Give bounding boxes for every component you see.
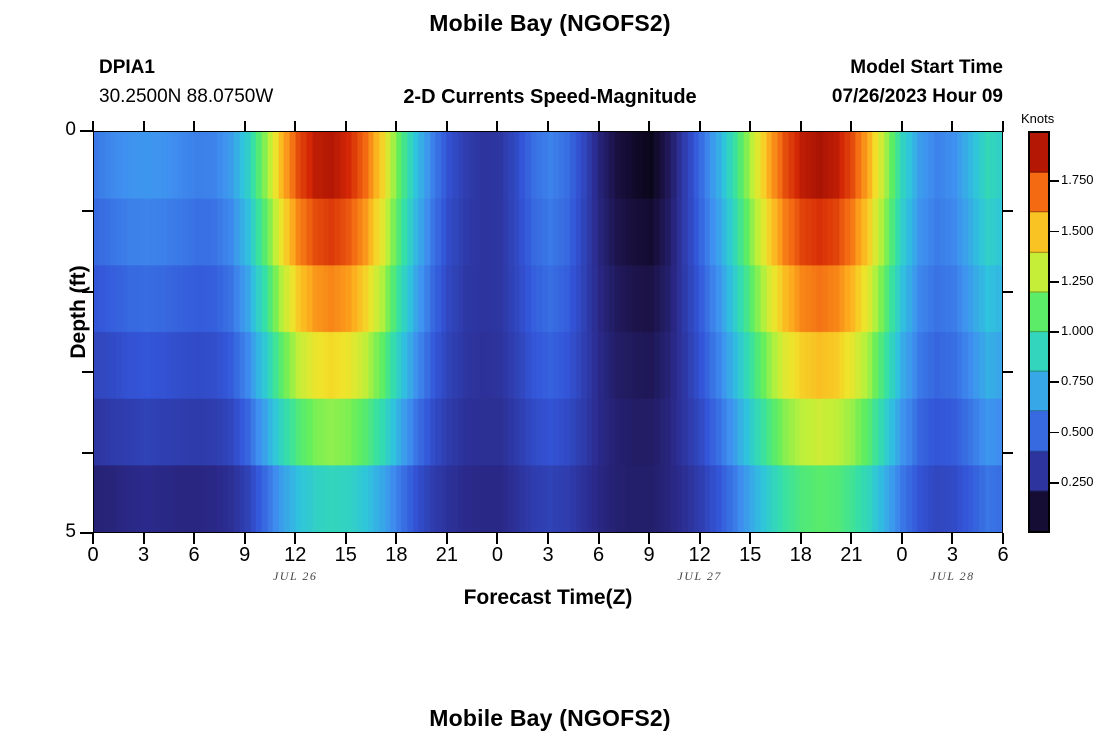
x-axis-tick-label: 21 bbox=[425, 544, 469, 567]
x-axis-day-label: JUL 28 bbox=[907, 569, 997, 584]
x-axis-tick-label: 9 bbox=[223, 544, 267, 567]
colorbar-tick-label: 1.750 bbox=[1061, 172, 1094, 187]
x-axis-tick-top bbox=[395, 121, 397, 132]
forecast-figure: Mobile Bay (NGOFS2) DPIA1 30.2500N 88.07… bbox=[0, 0, 1100, 750]
colorbar-title: Knots bbox=[1021, 111, 1054, 126]
colorbar-tick bbox=[1050, 180, 1059, 182]
x-axis-tick-top bbox=[244, 121, 246, 132]
x-axis-tick-top bbox=[800, 121, 802, 132]
x-axis-tick bbox=[850, 533, 852, 544]
colorbar-tick-label: 0.500 bbox=[1061, 424, 1094, 439]
x-axis-tick-label: 6 bbox=[981, 544, 1025, 567]
x-axis-day-label: JUL 26 bbox=[250, 569, 340, 584]
x-axis-tick-label: 15 bbox=[728, 544, 772, 567]
x-axis-tick-label: 0 bbox=[880, 544, 924, 567]
y-axis-minor-tick-right bbox=[1002, 371, 1013, 373]
x-axis-day-label: JUL 27 bbox=[655, 569, 745, 584]
x-axis-tick bbox=[800, 533, 802, 544]
x-axis-tick-label: 0 bbox=[475, 544, 519, 567]
heatmap-plot bbox=[93, 131, 1003, 533]
colorbar-tick bbox=[1050, 281, 1059, 283]
x-axis-tick-top bbox=[598, 121, 600, 132]
x-axis-tick-label: 9 bbox=[627, 544, 671, 567]
colorbar-tick bbox=[1050, 331, 1059, 333]
x-axis-tick-top bbox=[92, 121, 94, 132]
x-axis-tick-top bbox=[901, 121, 903, 132]
y-axis-minor-tick bbox=[82, 210, 93, 212]
y-axis-minor-tick-right bbox=[1002, 452, 1013, 454]
x-axis-tick bbox=[244, 533, 246, 544]
y-axis-minor-tick bbox=[82, 452, 93, 454]
x-axis-tick-label: 0 bbox=[71, 544, 115, 567]
y-axis-minor-tick-right bbox=[1002, 210, 1013, 212]
colorbar-tick-label: 1.500 bbox=[1061, 223, 1094, 238]
x-axis-tick bbox=[446, 533, 448, 544]
x-axis-tick-top bbox=[345, 121, 347, 132]
y-axis-minor-tick bbox=[82, 371, 93, 373]
x-axis-tick bbox=[598, 533, 600, 544]
x-axis-tick-label: 18 bbox=[779, 544, 823, 567]
colorbar-tick bbox=[1050, 381, 1059, 383]
colorbar-tick-label: 0.750 bbox=[1061, 373, 1094, 388]
x-axis-tick bbox=[395, 533, 397, 544]
x-axis-tick-label: 3 bbox=[930, 544, 974, 567]
x-axis-tick-top bbox=[699, 121, 701, 132]
x-axis-tick-top bbox=[1002, 121, 1004, 132]
colorbar-tick bbox=[1050, 432, 1059, 434]
x-axis-tick-top bbox=[749, 121, 751, 132]
station-id: DPIA1 bbox=[99, 57, 155, 79]
y-axis-tick-label: 5 bbox=[36, 521, 76, 543]
x-axis-tick bbox=[901, 533, 903, 544]
x-axis-tick-top bbox=[951, 121, 953, 132]
heatmap-canvas bbox=[94, 132, 1002, 532]
colorbar-tick-label: 1.000 bbox=[1061, 323, 1094, 338]
x-axis-tick-top bbox=[648, 121, 650, 132]
x-axis-tick-top bbox=[143, 121, 145, 132]
x-axis-tick bbox=[1002, 533, 1004, 544]
page-title: Mobile Bay (NGOFS2) bbox=[0, 10, 1100, 37]
x-axis-tick bbox=[496, 533, 498, 544]
x-axis-tick bbox=[951, 533, 953, 544]
y-axis-minor-tick-right bbox=[1002, 291, 1013, 293]
x-axis-tick-top bbox=[547, 121, 549, 132]
x-axis-tick bbox=[294, 533, 296, 544]
colorbar-tick-label: 0.250 bbox=[1061, 474, 1094, 489]
x-axis-tick-top bbox=[446, 121, 448, 132]
x-axis-tick bbox=[648, 533, 650, 544]
colorbar-tick bbox=[1050, 482, 1059, 484]
x-axis-tick-top bbox=[294, 121, 296, 132]
x-axis-tick-label: 21 bbox=[829, 544, 873, 567]
x-axis-tick bbox=[143, 533, 145, 544]
x-axis-tick-label: 18 bbox=[374, 544, 418, 567]
x-axis-label: Forecast Time(Z) bbox=[93, 586, 1003, 610]
x-axis-tick bbox=[345, 533, 347, 544]
bottom-title: Mobile Bay (NGOFS2) bbox=[0, 705, 1100, 732]
x-axis-tick-label: 6 bbox=[577, 544, 621, 567]
colorbar-canvas bbox=[1030, 133, 1048, 531]
x-axis-tick bbox=[547, 533, 549, 544]
x-axis-tick-label: 3 bbox=[122, 544, 166, 567]
x-axis-tick bbox=[699, 533, 701, 544]
colorbar-tick bbox=[1050, 231, 1059, 233]
colorbar-tick-label: 1.250 bbox=[1061, 273, 1094, 288]
x-axis-tick-label: 12 bbox=[678, 544, 722, 567]
colorbar bbox=[1028, 131, 1050, 533]
x-axis-tick-top bbox=[850, 121, 852, 132]
x-axis-tick-top bbox=[193, 121, 195, 132]
x-axis-tick bbox=[193, 533, 195, 544]
x-axis-tick-label: 3 bbox=[526, 544, 570, 567]
y-axis-minor-tick bbox=[82, 291, 93, 293]
x-axis-tick-top bbox=[496, 121, 498, 132]
model-start-time-label: Model Start Time bbox=[850, 57, 1003, 79]
x-axis-tick-label: 12 bbox=[273, 544, 317, 567]
y-axis-tick-label: 0 bbox=[36, 119, 76, 141]
model-start-time-value: 07/26/2023 Hour 09 bbox=[832, 86, 1003, 108]
x-axis-tick-label: 15 bbox=[324, 544, 368, 567]
x-axis-tick-label: 6 bbox=[172, 544, 216, 567]
x-axis-tick bbox=[92, 533, 94, 544]
x-axis-tick bbox=[749, 533, 751, 544]
